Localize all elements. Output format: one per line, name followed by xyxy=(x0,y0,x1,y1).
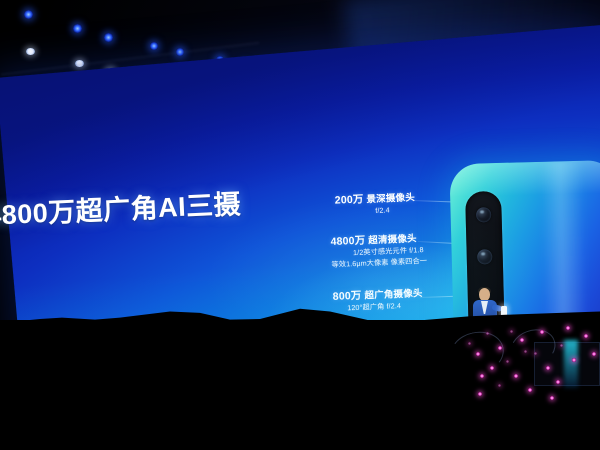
side-teal-light xyxy=(564,340,578,388)
keynote-stage-photo: 4800万超广角AI三摄 200万 景深摄像头 f/2.4 4800万 超清摄像… xyxy=(0,0,600,450)
stage-led-screen xyxy=(0,25,600,359)
screen-sheen xyxy=(0,25,600,359)
audience-head xyxy=(128,388,158,406)
audience-head xyxy=(232,384,258,400)
audience-head xyxy=(22,402,48,418)
presenter-held-phone xyxy=(501,306,507,316)
audience-head xyxy=(300,398,324,411)
audience-head xyxy=(404,372,438,392)
audience-head xyxy=(196,396,222,410)
